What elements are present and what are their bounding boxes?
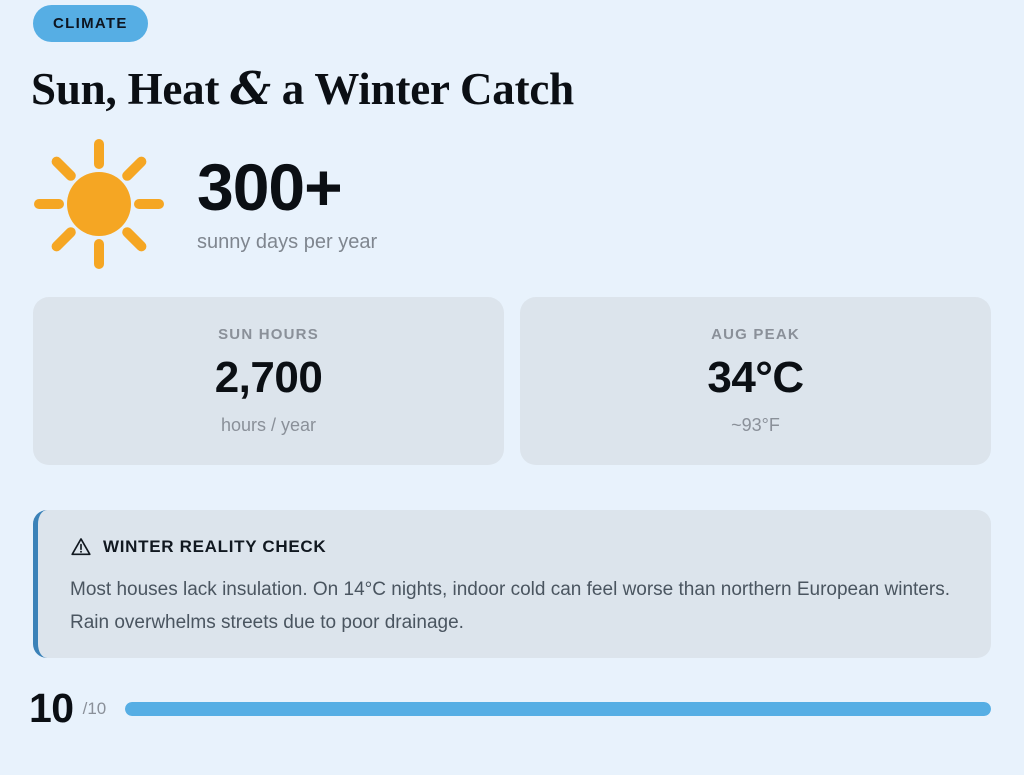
- page-title-part1: Sun, Heat: [31, 64, 230, 114]
- score-max-label: /10: [83, 700, 107, 717]
- alert-header: WINTER REALITY CHECK: [70, 536, 961, 558]
- winter-reality-check-alert: WINTER REALITY CHECK Most houses lack in…: [33, 510, 991, 658]
- score-row: 10 /10: [29, 688, 991, 729]
- hero-caption: sunny days per year: [197, 230, 377, 254]
- score-progress-fill: [125, 702, 991, 716]
- climate-card-page: CLIMATE Sun, Heat & a Winter Catch 300+ …: [0, 0, 1024, 775]
- alert-title: WINTER REALITY CHECK: [103, 537, 326, 557]
- stat-card-grid: SUN HOURS 2,700 hours / year AUG PEAK 34…: [33, 297, 991, 465]
- hero-value: 300+: [197, 154, 377, 221]
- sun-icon: [33, 138, 165, 270]
- ampersand-glyph: &: [230, 62, 270, 115]
- stat-card-label: AUG PEAK: [711, 326, 800, 343]
- score-progress-track[interactable]: [125, 702, 991, 716]
- page-title: Sun, Heat & a Winter Catch: [31, 62, 574, 115]
- stat-card-value: 2,700: [215, 355, 323, 401]
- score-value: 10: [29, 688, 74, 729]
- alert-body-text: Most houses lack insulation. On 14°C nig…: [70, 573, 950, 639]
- warning-triangle-icon: [70, 536, 92, 558]
- category-badge[interactable]: CLIMATE: [33, 5, 148, 42]
- stat-card-sublabel: hours / year: [221, 415, 316, 436]
- stat-card-sublabel: ~93°F: [731, 415, 780, 436]
- stat-card-label: SUN HOURS: [218, 326, 319, 343]
- stat-card-aug-peak: AUG PEAK 34°C ~93°F: [520, 297, 991, 465]
- page-title-part2: a Winter Catch: [271, 64, 574, 114]
- stat-card-value: 34°C: [707, 355, 803, 401]
- hero-text-block: 300+ sunny days per year: [197, 154, 377, 253]
- hero-stat: 300+ sunny days per year: [33, 138, 377, 270]
- stat-card-sun-hours: SUN HOURS 2,700 hours / year: [33, 297, 504, 465]
